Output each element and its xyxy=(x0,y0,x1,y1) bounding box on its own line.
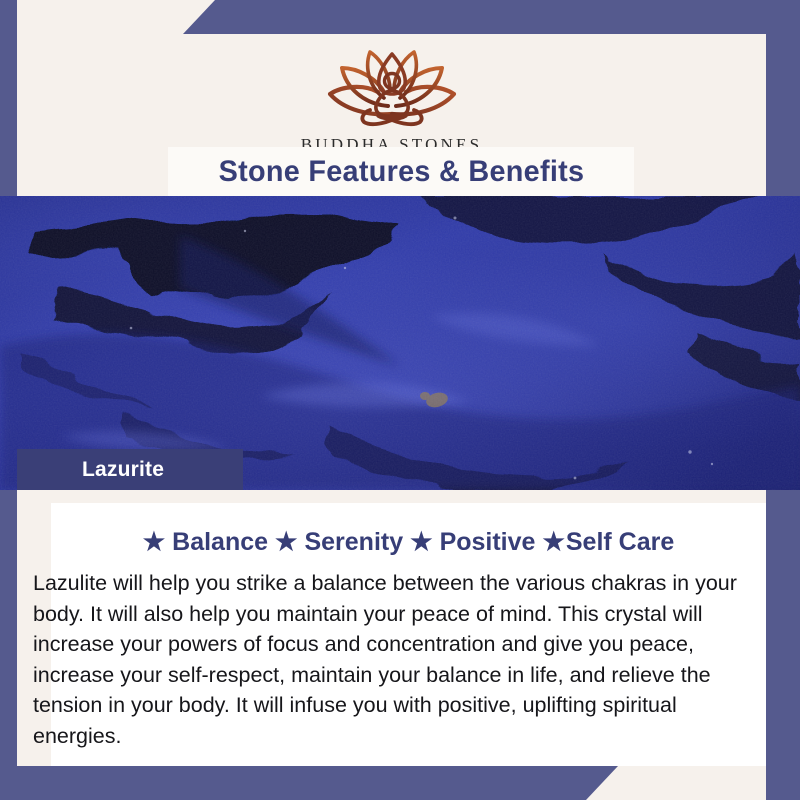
brand-logo: BUDDHA STONES xyxy=(17,34,766,146)
page-title: Stone Features & Benefits xyxy=(218,155,584,189)
benefit-label-serenity: Serenity xyxy=(304,528,403,556)
stone-name-label: Lazurite xyxy=(82,458,164,482)
frame-top-border xyxy=(0,0,800,34)
benefit-label-balance: Balance xyxy=(172,528,268,556)
card-top-strip xyxy=(17,490,766,503)
star-icon: ★ xyxy=(275,528,297,556)
benefits-row: ★Balance★Serenity★Positive★Self Care xyxy=(51,527,766,557)
star-icon: ★ xyxy=(410,528,432,556)
poster-root: BUDDHA STONES Stone Features & Benefits xyxy=(0,0,800,800)
page-title-banner: Stone Features & Benefits xyxy=(168,147,634,196)
star-icon: ★ xyxy=(542,528,564,556)
benefit-label-self-care: Self Care xyxy=(566,528,674,556)
lazurite-rough-stone-photo-icon xyxy=(0,196,800,490)
stone-name-badge: Lazurite xyxy=(17,449,243,490)
benefit-label-positive: Positive xyxy=(440,528,536,556)
description-text: Lazulite will help you strike a balance … xyxy=(33,568,748,751)
star-icon: ★ xyxy=(143,528,165,556)
frame-bottom-border xyxy=(0,766,800,800)
lotus-meditating-figure-logo-icon xyxy=(308,36,476,133)
